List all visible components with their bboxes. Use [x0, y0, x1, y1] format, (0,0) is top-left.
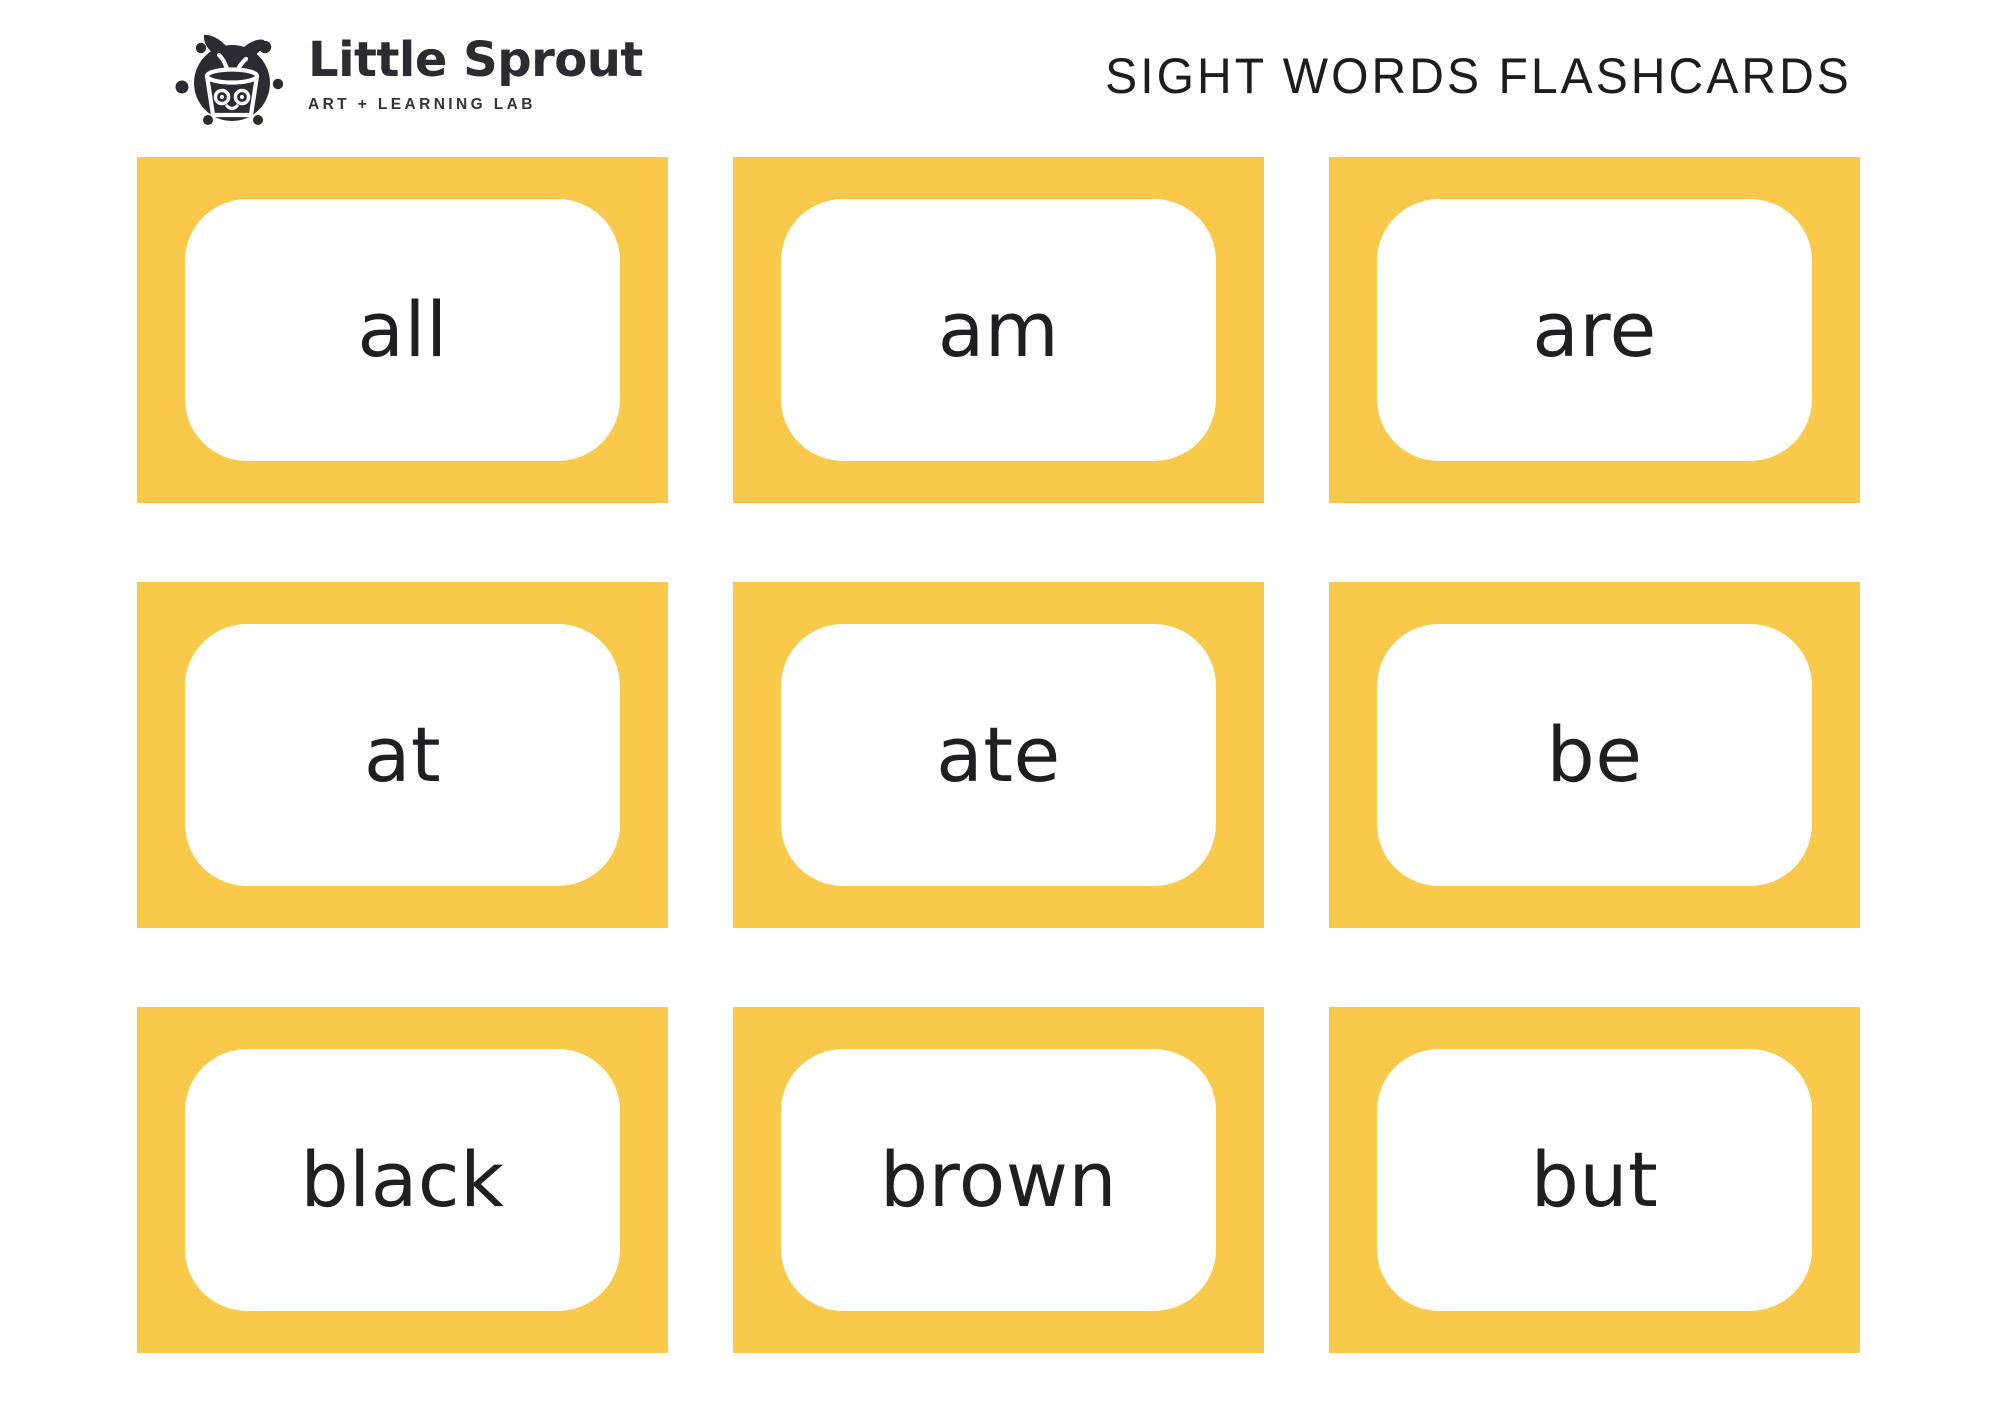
flashcard[interactable]: brown — [733, 1007, 1264, 1353]
flashcard[interactable]: all — [137, 157, 668, 503]
flashcard-face: but — [1377, 1049, 1812, 1311]
flashcard-word: ate — [936, 717, 1061, 793]
flashcard-face: am — [781, 199, 1216, 461]
flashcard-word: all — [357, 292, 447, 368]
page-title: SIGHT WORDS FLASHCARDS — [1105, 51, 1852, 101]
flashcard-word: am — [938, 292, 1060, 368]
brand-text-block: Little Sprout ART + LEARNING LAB — [308, 36, 643, 113]
flashcard[interactable]: am — [733, 157, 1264, 503]
flashcard[interactable]: at — [137, 582, 668, 928]
flashcard-face: are — [1377, 199, 1812, 461]
flashcard-word: brown — [880, 1142, 1117, 1218]
flashcard-grid: all am are at ate be black brown — [137, 157, 1863, 1353]
flashcard-face: ate — [781, 624, 1216, 886]
flashcard-word: but — [1531, 1142, 1659, 1218]
brand-tagline: ART + LEARNING LAB — [308, 97, 643, 113]
flashcard[interactable]: but — [1329, 1007, 1860, 1353]
flashcard[interactable]: be — [1329, 582, 1860, 928]
flashcard-face: black — [185, 1049, 620, 1311]
flashcard-word: are — [1532, 292, 1656, 368]
flashcard-face: be — [1377, 624, 1812, 886]
flashcard[interactable]: are — [1329, 157, 1860, 503]
flashcard-word: at — [364, 717, 441, 793]
brand-lockup: Little Sprout ART + LEARNING LAB — [170, 21, 643, 125]
brand-name: Little Sprout — [308, 36, 643, 84]
page-header: Little Sprout ART + LEARNING LAB SIGHT W… — [0, 0, 2000, 152]
flashcard-face: all — [185, 199, 620, 461]
flashcard-face: brown — [781, 1049, 1216, 1311]
flashcard-face: at — [185, 624, 620, 886]
sprout-in-pot-logo-icon — [170, 21, 288, 125]
flashcard-word: be — [1547, 717, 1643, 793]
flashcard[interactable]: ate — [733, 582, 1264, 928]
flashcard[interactable]: black — [137, 1007, 668, 1353]
flashcard-word: black — [300, 1142, 504, 1218]
